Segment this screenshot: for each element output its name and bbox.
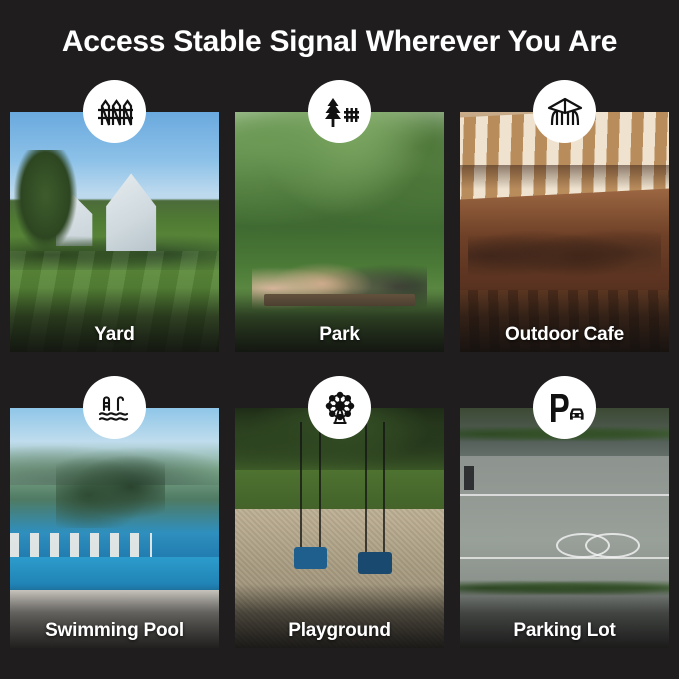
parking-lane-line — [460, 494, 669, 496]
card-image-outdoor-cafe: Outdoor Cafe — [460, 112, 669, 352]
swing-chain — [365, 422, 367, 561]
yard-photo — [10, 112, 219, 352]
card-label-swimming-pool: Swimming Pool — [10, 620, 219, 642]
ferris-wheel-icon — [308, 376, 371, 439]
card-label-yard: Yard — [10, 324, 219, 346]
parking-car-icon — [533, 376, 596, 439]
location-card-swimming-pool[interactable]: Swimming Pool — [10, 408, 219, 648]
page-title: Access Stable Signal Wherever You Are — [0, 22, 679, 62]
card-label-parking-lot: Parking Lot — [460, 620, 669, 642]
card-image-swimming-pool: Swimming Pool — [10, 408, 219, 648]
gazebo-icon — [533, 80, 596, 143]
card-image-park: Park — [235, 112, 444, 352]
card-image-yard: Yard — [10, 112, 219, 352]
card-image-parking-lot: Parking Lot — [460, 408, 669, 648]
playground-photo — [235, 408, 444, 648]
pool-photo — [10, 408, 219, 648]
swing-chain — [383, 422, 385, 561]
card-label-park: Park — [235, 324, 444, 346]
card-label-playground: Playground — [235, 620, 444, 642]
park-people — [252, 246, 428, 328]
swing-chain — [319, 422, 321, 561]
swing-seat — [358, 552, 391, 574]
card-label-outdoor-cafe: Outdoor Cafe — [460, 324, 669, 346]
pool-pine-trees — [56, 446, 165, 528]
card-image-playground: Playground — [235, 408, 444, 648]
swing-seat — [294, 547, 327, 569]
cafe-bar-stools — [468, 218, 660, 295]
parked-cars — [464, 466, 665, 490]
parking-lane-line — [460, 557, 669, 559]
parking-photo — [460, 408, 669, 648]
park-photo — [235, 112, 444, 352]
park-picnic-table — [264, 294, 414, 306]
location-card-yard[interactable]: Yard — [10, 112, 219, 352]
promo-banner: Access Stable Signal Wherever You Are Ya… — [0, 0, 679, 679]
cafe-awning-shadow — [460, 165, 669, 189]
location-card-outdoor-cafe[interactable]: Outdoor Cafe — [460, 112, 669, 352]
pool-ladder-waves-icon — [83, 376, 146, 439]
parking-circle-marking — [585, 533, 639, 559]
swing-chain — [300, 422, 302, 561]
fence-icon — [83, 80, 146, 143]
tree-bench-icon — [308, 80, 371, 143]
location-card-parking-lot[interactable]: Parking Lot — [460, 408, 669, 648]
location-card-playground[interactable]: Playground — [235, 408, 444, 648]
location-card-park[interactable]: Park — [235, 112, 444, 352]
parking-hedgerow — [460, 576, 669, 600]
playground-lawn — [235, 470, 444, 508]
cafe-photo — [460, 112, 669, 352]
